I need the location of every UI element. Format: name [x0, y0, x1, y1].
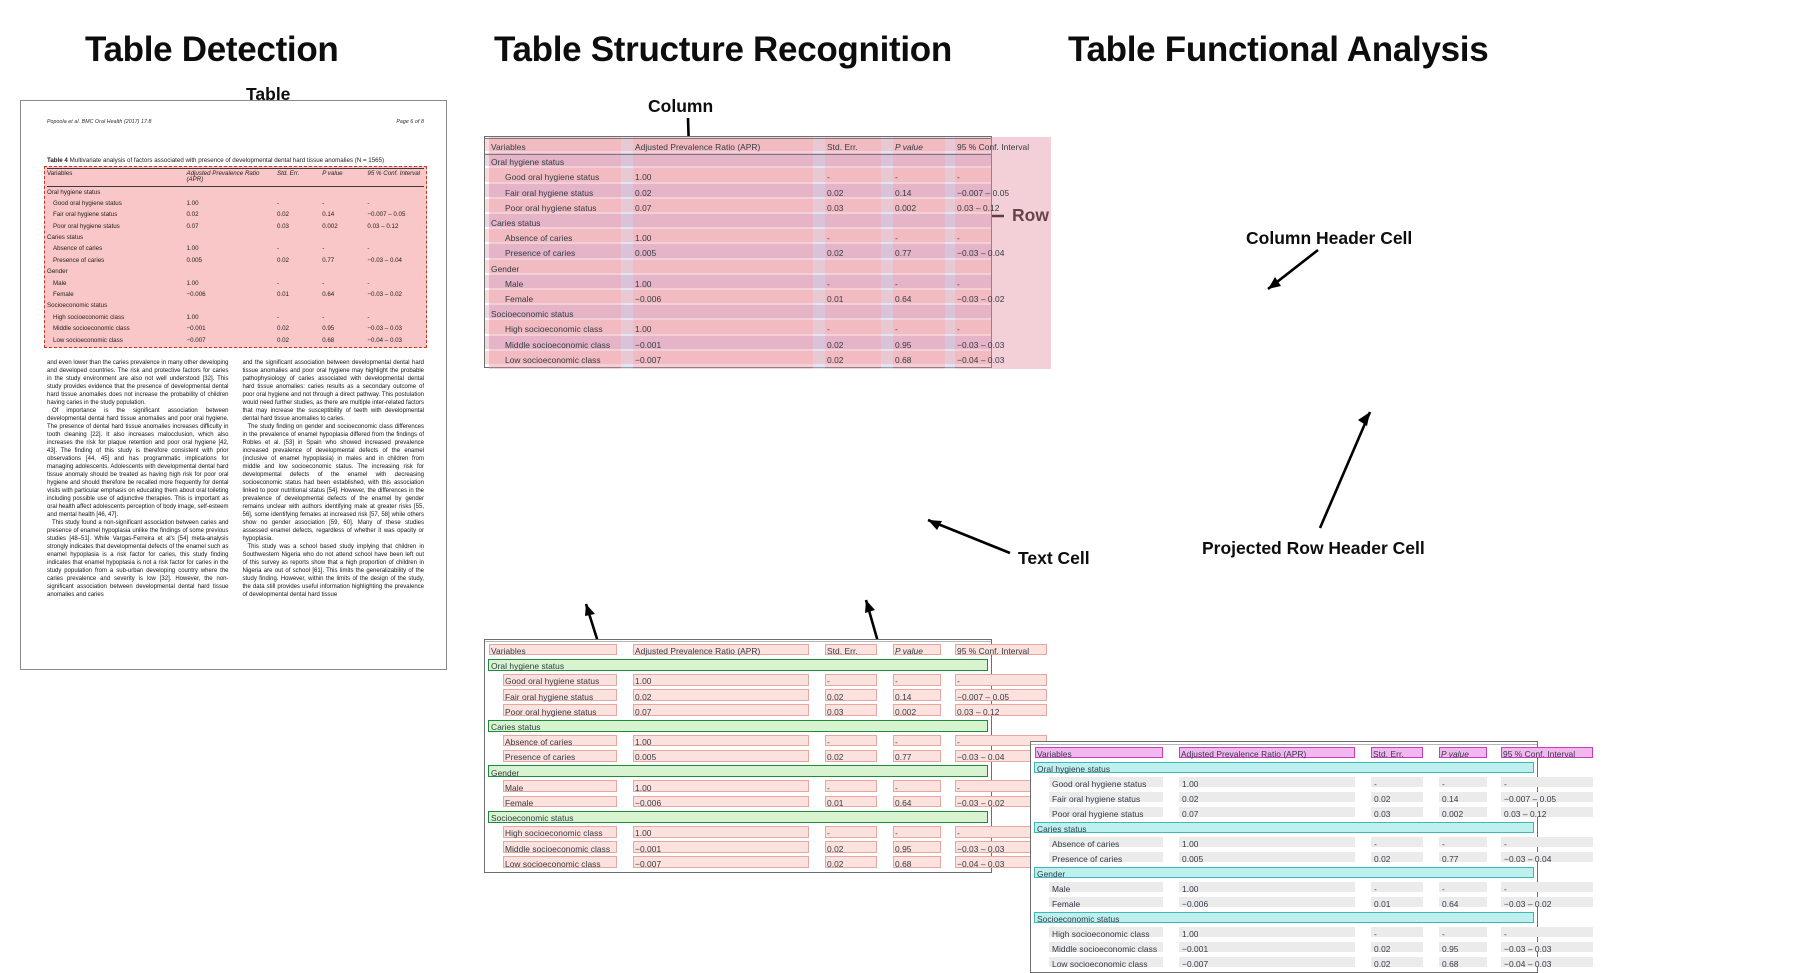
text-cell: Low socioeconomic class	[505, 857, 637, 870]
doc-table-row: Middle socioeconomic class−0.0010.020.95…	[47, 324, 424, 335]
functional-analysis-table: VariablesAdjusted Prevalence Ratio (APR)…	[1030, 741, 1538, 973]
table-cell-text: -	[957, 277, 1053, 290]
table-cell-text: 0.07	[635, 201, 815, 214]
doc-table-cell: 0.77	[322, 255, 367, 266]
text-cell: -	[957, 675, 1053, 688]
data-cell-text: Male	[1052, 883, 1184, 896]
callout-column-header-cell: Column Header Cell	[1246, 228, 1412, 249]
text-cell: 0.02	[635, 690, 815, 703]
data-cell-text: 0.002	[1442, 808, 1494, 821]
text-cell: Female	[505, 797, 637, 810]
doc-table-cell	[367, 186, 424, 198]
data-cell-text: 0.02	[1374, 943, 1430, 956]
table-cell-text: 0.005	[635, 247, 815, 260]
doc-table-cell: -	[367, 198, 424, 209]
table-cell-text: -	[827, 323, 883, 336]
table-cell-text: −0.006	[635, 293, 815, 306]
doc-table-cell: 0.02	[277, 335, 322, 346]
text-cell: 0.77	[895, 751, 947, 764]
table-cell-text: Caries status	[491, 217, 623, 230]
table-cell-text: Presence of caries	[505, 247, 637, 260]
document-body-text: and even lower than the caries prevalenc…	[47, 360, 424, 599]
text-cell: 0.02	[827, 690, 883, 703]
table-cell-text: 0.95	[895, 338, 947, 351]
doc-table-cell: -	[322, 312, 367, 323]
doc-table-cell: Good oral hygiene status	[47, 198, 186, 209]
doc-table-cell: −0.04 – 0.03	[367, 335, 424, 346]
spanning-cell-text: Socioeconomic status	[491, 812, 791, 825]
doc-table-cell: Absence of caries	[47, 244, 186, 255]
doc-table-cell: -	[277, 244, 322, 255]
text-cell: 1.00	[635, 781, 815, 794]
data-cell-text: 0.02	[1374, 793, 1430, 806]
data-cell-text: 0.03	[1374, 808, 1430, 821]
data-cell-text: −0.007 – 0.05	[1504, 793, 1600, 806]
data-cell-text: -	[1504, 838, 1600, 851]
table-cell-text: 0.02	[827, 338, 883, 351]
data-cell-text: −0.006	[1182, 898, 1362, 911]
text-cell: P value	[895, 645, 947, 658]
data-cell-text: -	[1374, 883, 1430, 896]
table-cell-text: -	[895, 171, 947, 184]
doc-table-cell: −0.007 – 0.05	[367, 210, 424, 221]
doc-table-cell: -	[322, 198, 367, 209]
data-cell-text: 0.07	[1182, 808, 1362, 821]
document-table: VariablesAdjusted Prevalence Ratio (APR)…	[47, 168, 424, 347]
table-cell-text: 1.00	[635, 323, 815, 336]
data-cell-text: 1.00	[1182, 838, 1362, 851]
column-header-cell-text: Adjusted Prevalence Ratio (APR)	[1181, 748, 1361, 761]
text-cell: High socioeconomic class	[505, 827, 637, 840]
doc-table-cell	[322, 301, 367, 312]
text-cell: 0.95	[895, 842, 947, 855]
table-cell-text: -	[895, 232, 947, 245]
data-cell-text: 0.03 – 0.12	[1504, 808, 1600, 821]
table-cell-text: Gender	[491, 262, 623, 275]
doc-table-cell: 1.00	[186, 278, 276, 289]
text-cell: 0.68	[895, 857, 947, 870]
doc-table-cell: 0.005	[186, 255, 276, 266]
column-header-cell-text: P value	[1441, 748, 1493, 761]
doc-table-cell: Fair oral hygiene status	[47, 210, 186, 221]
doc-table-cell: −0.006	[186, 289, 276, 300]
table-caption: Table 4 Multivariate analysis of factors…	[47, 157, 424, 165]
text-cell: 0.14	[895, 690, 947, 703]
doc-table-cell: 0.68	[322, 335, 367, 346]
doc-table-cell: Male	[47, 278, 186, 289]
doc-table-column-header: Adjusted Prevalence Ratio (APR)	[186, 168, 276, 186]
doc-table-cell	[367, 301, 424, 312]
table-cell-text: Fair oral hygiene status	[505, 186, 637, 199]
table-cell-text: −0.007	[635, 353, 815, 366]
column-header-text: 95 % Conf. Interval	[957, 141, 1053, 154]
doc-table-section-row: Oral hygiene status	[47, 186, 424, 198]
data-cell-text: High socioeconomic class	[1052, 928, 1184, 941]
doc-table-cell: 0.03 – 0.12	[367, 221, 424, 232]
doc-table-section-row: Gender	[47, 267, 424, 278]
text-cell: 0.002	[895, 705, 947, 718]
column-header-text: P value	[895, 141, 947, 154]
data-cell-text: 0.95	[1442, 943, 1494, 956]
doc-table-cell: Low socioeconomic class	[47, 335, 186, 346]
table-cell-text: Socioeconomic status	[491, 308, 623, 321]
table-cell-text: 0.002	[895, 201, 947, 214]
doc-table-cell: 0.64	[322, 289, 367, 300]
data-cell-text: -	[1442, 778, 1494, 791]
table-cell-text: Low socioeconomic class	[505, 353, 637, 366]
table-cell-text: 0.02	[827, 353, 883, 366]
column-header-text: Adjusted Prevalence Ratio (APR)	[635, 141, 815, 154]
data-cell-text: Absence of caries	[1052, 838, 1184, 851]
table-cell-text: Absence of caries	[505, 232, 637, 245]
data-cell-text: 0.01	[1374, 898, 1430, 911]
doc-table-cell: 1.00	[186, 244, 276, 255]
doc-table-row: Fair oral hygiene status0.020.020.14−0.0…	[47, 210, 424, 221]
doc-table-cell: -	[322, 278, 367, 289]
data-cell-text: -	[1442, 928, 1494, 941]
doc-table-cell: Middle socioeconomic class	[47, 324, 186, 335]
doc-table-cell: -	[277, 278, 322, 289]
text-cell: 0.02	[827, 857, 883, 870]
text-cell: −0.001	[635, 842, 815, 855]
data-cell-text: 0.77	[1442, 853, 1494, 866]
doc-table-cell: −0.03 – 0.02	[367, 289, 424, 300]
text-cell: −0.006	[635, 797, 815, 810]
data-cell-text: Presence of caries	[1052, 853, 1184, 866]
data-cell-text: -	[1374, 778, 1430, 791]
text-cell: -	[827, 736, 883, 749]
table-cell-text: −0.04 – 0.03	[957, 353, 1053, 366]
document-page: Popoola et al. BMC Oral Health (2017) 17…	[20, 100, 447, 670]
detected-table-region: VariablesAdjusted Prevalence Ratio (APR)…	[47, 168, 424, 347]
data-cell-text: -	[1442, 883, 1494, 896]
doc-table-row: Low socioeconomic class−0.0070.020.68−0.…	[47, 335, 424, 346]
table-cell-text: -	[827, 277, 883, 290]
doc-table-row: Absence of caries1.00---	[47, 244, 424, 255]
doc-table-cell: 0.07	[186, 221, 276, 232]
text-cell: Male	[505, 781, 637, 794]
data-cell-text: -	[1442, 838, 1494, 851]
doc-table-cell: Gender	[47, 267, 186, 278]
doc-table-cell	[277, 186, 322, 198]
data-cell-text: 1.00	[1182, 778, 1362, 791]
doc-table-cell	[322, 186, 367, 198]
doc-table-cell: 0.02	[277, 255, 322, 266]
doc-table-cell	[186, 301, 276, 312]
table-cell-text: -	[957, 323, 1053, 336]
text-cell: 1.00	[635, 736, 815, 749]
data-cell-text: −0.001	[1182, 943, 1362, 956]
table-cell-text: 0.68	[895, 353, 947, 366]
table-cell-text: -	[895, 323, 947, 336]
body-column-left: and even lower than the caries prevalenc…	[47, 360, 229, 599]
table-cell-text: 1.00	[635, 232, 815, 245]
text-cell: -	[827, 827, 883, 840]
text-cell: 0.03 – 0.12	[957, 705, 1053, 718]
panel-title-table-detection: Table Detection	[85, 30, 339, 70]
data-cell-text: -	[1504, 928, 1600, 941]
doc-table-cell: −0.03 – 0.03	[367, 324, 424, 335]
body-column-right: and the significant association between …	[243, 360, 425, 599]
spanning-cell-text: Gender	[491, 766, 791, 779]
running-head-left: Popoola et al. BMC Oral Health (2017) 17…	[47, 119, 152, 125]
structure-recognition-table: VariablesAdjusted Prevalence Ratio (APR)…	[484, 136, 992, 368]
doc-table-cell: -	[322, 244, 367, 255]
text-cell: Absence of caries	[505, 736, 637, 749]
text-cell: -	[895, 675, 947, 688]
text-cell: -	[895, 736, 947, 749]
doc-table-cell: -	[367, 278, 424, 289]
doc-table-row: Presence of caries0.0050.020.77−0.03 – 0…	[47, 255, 424, 266]
doc-table-cell: 1.00	[186, 312, 276, 323]
text-cell: -	[895, 827, 947, 840]
text-cell: 0.01	[827, 797, 883, 810]
data-cell-text: 0.02	[1182, 793, 1362, 806]
text-cell: Poor oral hygiene status	[505, 705, 637, 718]
doc-table-cell: Presence of caries	[47, 255, 186, 266]
data-cell-text: 0.02	[1374, 853, 1430, 866]
table-cell-text: High socioeconomic class	[505, 323, 637, 336]
callout-column: Column	[648, 96, 713, 117]
text-cell: 0.07	[635, 705, 815, 718]
data-cell-text: −0.007	[1182, 958, 1362, 971]
doc-table-cell: 1.00	[186, 198, 276, 209]
text-cell: 0.64	[895, 797, 947, 810]
table-cell-text: 1.00	[635, 277, 815, 290]
doc-table-cell	[322, 267, 367, 278]
doc-table-cell: 0.02	[186, 210, 276, 221]
text-cell: 0.03	[827, 705, 883, 718]
projected-row-header-cell-text: Socioeconomic status	[1037, 913, 1337, 926]
table-cell-text: Female	[505, 293, 637, 306]
doc-table-cell	[277, 301, 322, 312]
data-cell-text: -	[1374, 928, 1430, 941]
doc-table-cell	[186, 186, 276, 198]
table-cell-text: −0.03 – 0.04	[957, 247, 1053, 260]
table-cell-text: Male	[505, 277, 637, 290]
table-top-rule	[485, 138, 991, 139]
table-cell-text: -	[827, 171, 883, 184]
doc-table-cell: Oral hygiene status	[47, 186, 186, 198]
doc-table-row: Good oral hygiene status1.00---	[47, 198, 424, 209]
data-cell-text: Female	[1052, 898, 1184, 911]
text-cell: 0.02	[827, 842, 883, 855]
table-cell-text: Oral hygiene status	[491, 156, 623, 169]
table-cell-text: 0.02	[827, 247, 883, 260]
data-cell-text: 0.02	[1374, 958, 1430, 971]
panel-title-table-structure-recognition: Table Structure Recognition	[494, 30, 952, 70]
text-cell: 0.02	[827, 751, 883, 764]
data-cell-text: -	[1504, 778, 1600, 791]
doc-table-cell: Caries status	[47, 233, 186, 244]
projected-row-header-cell-text: Gender	[1037, 868, 1337, 881]
data-cell-text: −0.03 – 0.04	[1504, 853, 1600, 866]
text-cell: Good oral hygiene status	[505, 675, 637, 688]
doc-table-cell	[367, 267, 424, 278]
table-cell-text: Good oral hygiene status	[505, 171, 637, 184]
column-header-cell-text: Std. Err.	[1373, 748, 1429, 761]
table-cell-text: 0.64	[895, 293, 947, 306]
doc-table-cell	[277, 267, 322, 278]
doc-table-row: Poor oral hygiene status0.070.030.0020.0…	[47, 221, 424, 232]
table-cell-text: −0.001	[635, 338, 815, 351]
text-cell: −0.007	[635, 857, 815, 870]
projected-row-header-cell-text: Caries status	[1037, 823, 1337, 836]
table-cell-text: −0.03 – 0.03	[957, 338, 1053, 351]
data-cell-text: 0.64	[1442, 898, 1494, 911]
data-cell-text: −0.04 – 0.03	[1504, 958, 1600, 971]
doc-table-section-row: Socioeconomic status	[47, 301, 424, 312]
text-cell: -	[827, 781, 883, 794]
table-cell-text: 0.14	[895, 186, 947, 199]
text-cell: 0.005	[635, 751, 815, 764]
data-cell-text: Fair oral hygiene status	[1052, 793, 1184, 806]
text-cell: Presence of caries	[505, 751, 637, 764]
data-cell-text: -	[1504, 883, 1600, 896]
table-cell-text: 0.01	[827, 293, 883, 306]
doc-table-cell: -	[367, 312, 424, 323]
doc-table-column-header: Variables	[47, 168, 186, 186]
doc-table-cell: -	[367, 244, 424, 255]
text-cell: Fair oral hygiene status	[505, 690, 637, 703]
data-cell-text: -	[1374, 838, 1430, 851]
text-cell: 1.00	[635, 675, 815, 688]
cell-structure-table: VariablesAdjusted Prevalence Ratio (APR)…	[484, 639, 992, 873]
doc-table-row: Female−0.0060.010.64−0.03 – 0.02	[47, 289, 424, 300]
doc-table-cell: -	[277, 198, 322, 209]
table-cell-text: 1.00	[635, 171, 815, 184]
table-cell-text: 0.03	[827, 201, 883, 214]
table-top-rule	[485, 641, 991, 642]
data-cell-text: 1.00	[1182, 883, 1362, 896]
data-cell-text: Low socioeconomic class	[1052, 958, 1184, 971]
doc-table-cell: Female	[47, 289, 186, 300]
doc-table-cell: 0.03	[277, 221, 322, 232]
text-cell: −0.007 – 0.05	[957, 690, 1053, 703]
data-cell-text: Poor oral hygiene status	[1052, 808, 1184, 821]
table-cell-text: 0.02	[635, 186, 815, 199]
data-cell-text: 0.14	[1442, 793, 1494, 806]
table-cell-text: 0.03 – 0.12	[957, 201, 1053, 214]
running-head-right: Page 6 of 8	[396, 119, 424, 125]
doc-table-cell: −0.03 – 0.04	[367, 255, 424, 266]
doc-table-cell: -	[277, 312, 322, 323]
spanning-cell-text: Oral hygiene status	[491, 660, 791, 673]
document-running-head: Popoola et al. BMC Oral Health (2017) 17…	[47, 119, 424, 125]
data-cell-text: −0.03 – 0.02	[1504, 898, 1600, 911]
doc-table-cell: 0.002	[322, 221, 367, 232]
text-cell: -	[895, 781, 947, 794]
table-cell-text: 0.77	[895, 247, 947, 260]
doc-table-cell: 0.02	[277, 324, 322, 335]
table-top-rule	[1031, 744, 1537, 745]
callout-text-cell: Text Cell	[1018, 548, 1090, 569]
doc-table-cell	[186, 267, 276, 278]
data-cell-text: 1.00	[1182, 928, 1362, 941]
text-cell: Std. Err.	[827, 645, 883, 658]
text-cell: Middle socioeconomic class	[505, 842, 637, 855]
table-caption-text: Multivariate analysis of factors associa…	[68, 157, 384, 164]
figure-canvas: Table Detection Table Structure Recognit…	[0, 0, 1800, 790]
doc-table-cell	[367, 233, 424, 244]
doc-table-cell	[322, 233, 367, 244]
doc-table-cell: 0.02	[277, 210, 322, 221]
text-cell: Adjusted Prevalence Ratio (APR)	[635, 645, 815, 658]
doc-table-header-row: VariablesAdjusted Prevalence Ratio (APR)…	[47, 168, 424, 186]
doc-table-column-header: Std. Err.	[277, 168, 322, 186]
table-cell-text: 0.02	[827, 186, 883, 199]
table-cell-text: −0.03 – 0.02	[957, 293, 1053, 306]
column-header-cell-text: 95 % Conf. Interval	[1503, 748, 1599, 761]
doc-table-cell	[186, 233, 276, 244]
table-cell-text: -	[957, 232, 1053, 245]
text-cell: Variables	[491, 645, 623, 658]
data-cell-text: 0.005	[1182, 853, 1362, 866]
text-cell: 1.00	[635, 827, 815, 840]
table-caption-label: Table 4	[47, 157, 68, 164]
doc-table-cell	[277, 233, 322, 244]
doc-table-row: Male1.00---	[47, 278, 424, 289]
text-cell: -	[827, 675, 883, 688]
table-cell-text: Middle socioeconomic class	[505, 338, 637, 351]
callout-projected-row-header-cell: Projected Row Header Cell	[1202, 538, 1425, 559]
doc-table-cell: High socioeconomic class	[47, 312, 186, 323]
table-cell-text: −0.007 – 0.05	[957, 186, 1053, 199]
doc-table-column-header: 95 % Conf. Interval	[367, 168, 424, 186]
projected-row-header-cell-text: Oral hygiene status	[1037, 763, 1337, 776]
column-header-cell-text: Variables	[1037, 748, 1169, 761]
doc-table-row: High socioeconomic class1.00---	[47, 312, 424, 323]
doc-table-cell: −0.007	[186, 335, 276, 346]
table-cell-text: -	[957, 171, 1053, 184]
doc-table-column-header: P value	[322, 168, 367, 186]
data-cell-text: Good oral hygiene status	[1052, 778, 1184, 791]
table-cell-text: Poor oral hygiene status	[505, 201, 637, 214]
table-cell-text: -	[827, 232, 883, 245]
doc-table-cell: 0.01	[277, 289, 322, 300]
panel-title-table-functional-analysis: Table Functional Analysis	[1068, 30, 1488, 70]
data-cell-text: Middle socioeconomic class	[1052, 943, 1184, 956]
doc-table-cell: Socioeconomic status	[47, 301, 186, 312]
doc-table-cell: 0.14	[322, 210, 367, 221]
doc-table-section-row: Caries status	[47, 233, 424, 244]
doc-table-cell: 0.95	[322, 324, 367, 335]
table-cell-text: -	[895, 277, 947, 290]
doc-table-cell: Poor oral hygiene status	[47, 221, 186, 232]
doc-table-cell: −0.001	[186, 324, 276, 335]
spanning-cell-text: Caries status	[491, 721, 791, 734]
text-cell: 95 % Conf. Interval	[957, 645, 1053, 658]
column-header-text: Variables	[491, 141, 623, 154]
data-cell-text: −0.03 – 0.03	[1504, 943, 1600, 956]
data-cell-text: 0.68	[1442, 958, 1494, 971]
column-header-text: Std. Err.	[827, 141, 883, 154]
